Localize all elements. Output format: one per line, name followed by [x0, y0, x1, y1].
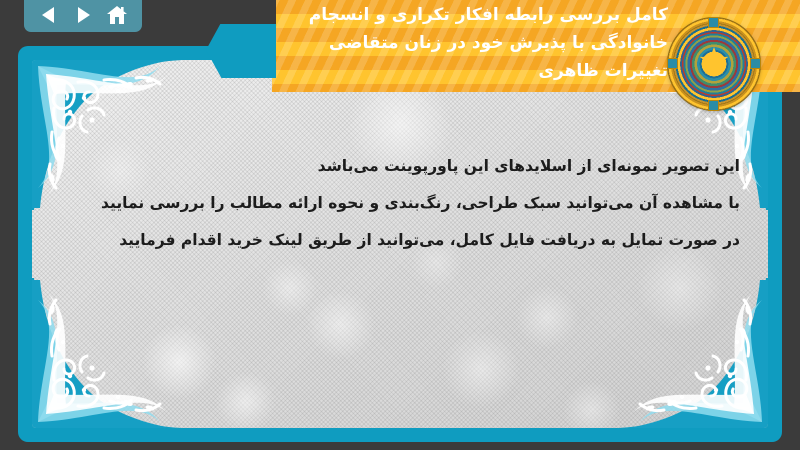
home-icon — [107, 6, 127, 25]
previous-slide-button[interactable] — [36, 3, 62, 27]
slide-content-area: این تصویر نمونه‌ای از اسلایدهای این پاور… — [32, 60, 768, 428]
medallion-node — [708, 17, 719, 28]
slide-navigation-bar — [24, 0, 142, 32]
medallion-node — [667, 58, 678, 69]
persian-corner-flourish-icon — [618, 278, 768, 428]
medallion-node — [750, 58, 761, 69]
medallion-node — [708, 100, 719, 111]
persian-medallion-icon — [668, 18, 760, 110]
body-line-2: با مشاهده آن می‌توانید سبک طراحی، رنگ‌بن… — [60, 185, 740, 222]
banner-chevron-mask — [206, 0, 276, 24]
title-line-3: تغییرات ظاهری — [276, 57, 668, 85]
body-line-3: در صورت تمایل به دریافت فایل کامل، می‌تو… — [60, 222, 740, 259]
title-line-1: کامل بررسی رابطه افکار تکراری و انسجام — [276, 1, 668, 29]
slide-frame: این تصویر نمونه‌ای از اسلایدهای این پاور… — [18, 46, 782, 442]
persian-corner-flourish-icon — [32, 278, 182, 428]
home-button[interactable] — [104, 3, 130, 27]
slide-title: کامل بررسی رابطه افکار تکراری و انسجام خ… — [276, 1, 668, 85]
slide-viewer: این تصویر نمونه‌ای از اسلایدهای این پاور… — [0, 0, 800, 450]
triangle-right-icon — [74, 6, 92, 24]
triangle-left-icon — [40, 6, 58, 24]
body-line-1: این تصویر نمونه‌ای از اسلایدهای این پاور… — [60, 148, 740, 185]
next-slide-button[interactable] — [70, 3, 96, 27]
title-line-2: خانوادگی با پذیرش خود در زنان متقاضی — [276, 29, 668, 57]
slide-body-text: این تصویر نمونه‌ای از اسلایدهای این پاور… — [60, 148, 740, 259]
